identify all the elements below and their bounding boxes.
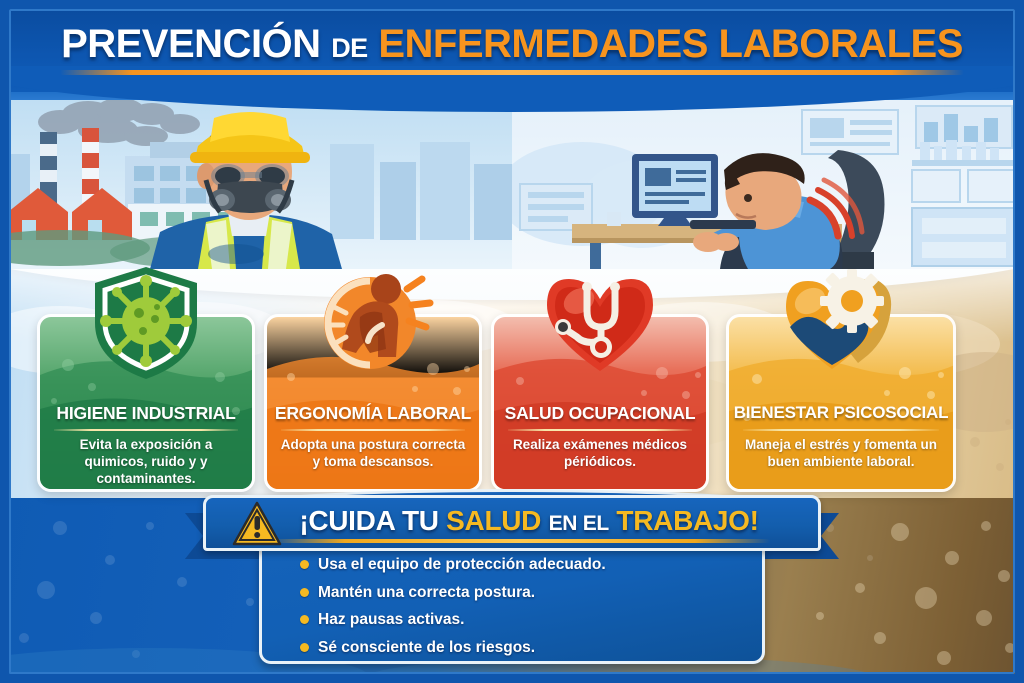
heart-head-gear-icon [780,261,902,383]
card-title: BIENESTAR PSICOSOCIAL [729,403,953,423]
infographic-poster: HIGIENE INDUSTRIAL Evita la exposición a… [0,0,1024,683]
ribbon-text-3: EN EL [549,512,609,535]
warning-triangle-icon [232,501,282,547]
title-underline [60,70,964,75]
list-item: Usa el equipo de protección adecuado. [300,557,740,573]
tips-list: Usa el equipo de protección adecuado. Ma… [300,557,740,667]
ribbon-title: ¡CUIDA TU SALUD EN EL TRABAJO! [203,505,821,537]
card-description: Maneja el estrés y fomenta un buen ambie… [739,437,943,471]
hero-scene-right [512,84,1024,269]
card-title: SALUD OCUPACIONAL [494,403,706,424]
card-bienestar-psicosocial[interactable]: BIENESTAR PSICOSOCIAL Maneja el estrés y… [726,314,956,492]
title-part-2: DE [331,33,368,63]
title-part-1: PREVENCIÓN [61,22,321,66]
bullet-dot-icon [300,643,309,652]
card-higiene-industrial[interactable]: HIGIENE INDUSTRIAL Evita la exposición a… [37,314,255,492]
list-item-text: Haz pausas activas. [318,612,464,628]
page-title: PREVENCIÓN DE ENFERMEDADES LABORALES [0,22,1024,67]
card-description: Adopta una postura correcta y toma desca… [277,437,469,471]
bullet-dot-icon [300,615,309,624]
card-salud-ocupacional[interactable]: SALUD OCUPACIONAL Realiza exámenes médic… [491,314,709,492]
call-to-action-ribbon: ¡CUIDA TU SALUD EN EL TRABAJO! Usa el eq… [0,487,1024,683]
ribbon-underline [270,539,770,543]
industrial-scene-illustration [0,84,512,269]
card-divider [281,429,465,431]
card-divider [743,429,939,431]
list-item-text: Mantén una correcta postura. [318,585,535,601]
list-item-text: Usa el equipo de protección adecuado. [318,557,606,573]
list-item: Haz pausas activas. [300,612,740,628]
prevention-cards: HIGIENE INDUSTRIAL Evita la exposición a… [0,262,1024,507]
office-scene-illustration [512,84,1024,269]
shield-virus-icon [85,261,207,383]
card-description: Evita la exposición a quimicos, ruido y … [50,437,242,488]
card-description: Realiza exámenes médicos périódicos. [504,437,696,471]
list-item-text: Sé consciente de los riesgos. [318,640,535,656]
bullet-dot-icon [300,560,309,569]
back-pain-person-icon [312,261,434,383]
card-title: HIGIENE INDUSTRIAL [40,403,252,424]
ribbon-text-1: ¡CUIDA TU [299,505,438,536]
title-part-3: ENFERMEDADES LABORALES [378,22,963,66]
heart-stethoscope-icon [539,261,661,383]
list-item: Sé consciente de los riesgos. [300,640,740,656]
card-divider [54,429,238,431]
card-ergonomia-laboral[interactable]: ERGONOMÍA LABORAL Adopta una postura cor… [264,314,482,492]
card-title: ERGONOMÍA LABORAL [267,403,479,424]
ribbon-text-4: TRABAJO! [616,505,758,536]
card-divider [508,429,692,431]
bullet-dot-icon [300,588,309,597]
ribbon-text-2: SALUD [446,505,541,536]
list-item: Mantén una correcta postura. [300,585,740,601]
hero-scene-left [0,84,512,269]
